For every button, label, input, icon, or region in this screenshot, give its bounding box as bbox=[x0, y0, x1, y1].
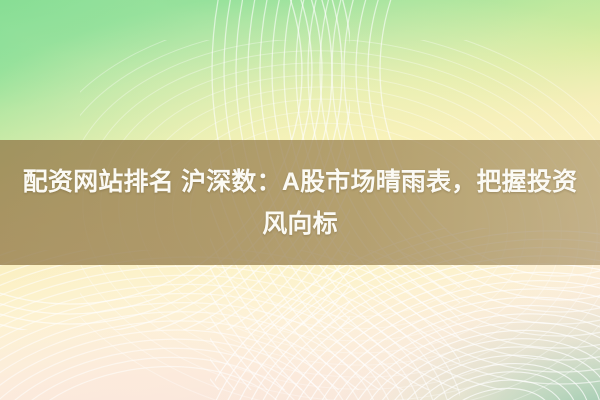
promo-banner: 配资网站排名 沪深数：A股市场晴雨表，把握投资风向标 bbox=[0, 0, 600, 400]
caption-band: 配资网站排名 沪深数：A股市场晴雨表，把握投资风向标 bbox=[0, 140, 600, 265]
banner-headline: 配资网站排名 沪深数：A股市场晴雨表，把握投资风向标 bbox=[22, 161, 578, 245]
arc-cluster-bottom-left-icon bbox=[0, 250, 460, 400]
